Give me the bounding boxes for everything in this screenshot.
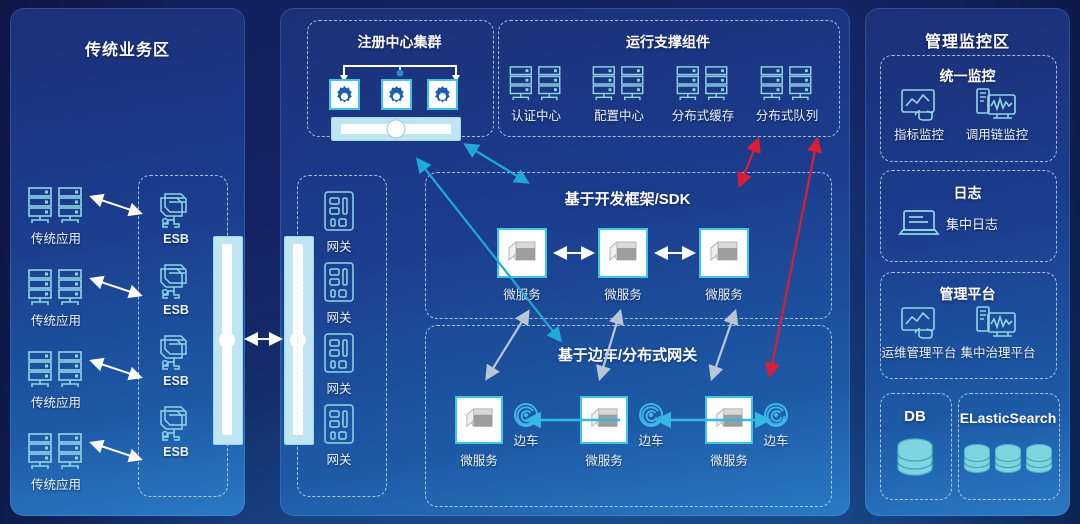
- registry-node-2[interactable]: [381, 79, 412, 110]
- list-item[interactable]: ESB: [155, 261, 197, 301]
- list-item-label: 传统应用: [16, 310, 96, 329]
- list-item-label: ESB: [145, 232, 207, 246]
- cube-icon: [606, 238, 640, 272]
- list-item-label: 传统应用: [16, 228, 96, 247]
- microservice-label: 微服务: [692, 450, 766, 469]
- logs-item-central[interactable]: 集中日志: [898, 208, 940, 240]
- server-stack-icon: [588, 65, 650, 103]
- gateway-icon: [322, 261, 356, 305]
- list-item[interactable]: 网关: [322, 332, 356, 376]
- gear-icon: [331, 83, 358, 110]
- cube-icon: [588, 405, 621, 438]
- monitoring-item-label: 指标监控: [886, 124, 952, 143]
- gear-icon: [429, 83, 456, 110]
- microservice-tile: [455, 396, 503, 444]
- dashboard-touch-icon: [900, 88, 938, 122]
- list-item[interactable]: 网关: [322, 403, 356, 447]
- registry-node-1[interactable]: [329, 79, 360, 110]
- gateway-icon: [322, 403, 356, 447]
- microservice-tile: [699, 228, 749, 278]
- monitor-wave-icon: [975, 306, 1017, 340]
- gateway-icon: [322, 190, 356, 234]
- registry-load-balancer[interactable]: [331, 117, 461, 141]
- list-item[interactable]: 分布式队列: [756, 65, 818, 103]
- list-item[interactable]: 分布式缓存: [672, 65, 734, 103]
- server-stack-icon: [505, 65, 567, 103]
- logs-title: 日志: [880, 183, 1055, 203]
- esb-icon: [155, 403, 197, 443]
- list-item-label: 配置中心: [579, 105, 659, 124]
- list-item-label: 传统应用: [16, 474, 96, 493]
- cube-icon: [707, 238, 741, 272]
- registry-cluster-title: 注册中心集群: [307, 32, 492, 52]
- monitor-wave-icon: [975, 88, 1017, 122]
- architecture-diagram: 传统业务区 传统应用: [0, 0, 1080, 524]
- platform-title: 管理平台: [880, 284, 1055, 304]
- list-item-label: 传统应用: [16, 392, 96, 411]
- dashboard-touch-icon: [900, 306, 938, 340]
- microservice-tile: [598, 228, 648, 278]
- slider-knob[interactable]: [388, 121, 405, 138]
- runtime-components-title: 运行支撑组件: [498, 32, 838, 52]
- list-item-label: 网关: [309, 236, 369, 255]
- monitoring-item-tracing[interactable]: 调用链监控: [975, 88, 1017, 122]
- storage-es-title: ELasticSearch: [954, 410, 1062, 426]
- server-stack-icon: [672, 65, 734, 103]
- list-item-label: 网关: [309, 449, 369, 468]
- sidecar-label: 边车: [753, 430, 799, 449]
- esb-icon: [155, 332, 197, 372]
- list-item[interactable]: 网关: [322, 261, 356, 305]
- list-item[interactable]: 认证中心: [505, 65, 567, 103]
- sidecar-spiral-icon: [638, 402, 664, 428]
- right-panel-title: 管理监控区: [865, 28, 1070, 52]
- cube-icon: [505, 238, 539, 272]
- database-icon: [895, 437, 935, 483]
- rail-connector-dot: [219, 332, 235, 348]
- logs-item-label: 集中日志: [946, 214, 1012, 233]
- database-icon: [963, 442, 1053, 482]
- list-item[interactable]: ESB: [155, 190, 197, 230]
- microservice-label: 微服务: [442, 450, 516, 469]
- sidecar-label: 边车: [628, 430, 674, 449]
- esb-icon: [155, 190, 197, 230]
- esb-icon: [155, 261, 197, 301]
- list-item[interactable]: 传统应用: [26, 350, 86, 390]
- sidecar-zone-title: 基于边车/分布式网关: [425, 344, 830, 365]
- list-item-label: 分布式缓存: [663, 105, 743, 124]
- monitoring-item-metrics[interactable]: 指标监控: [900, 88, 938, 122]
- microservice-tile: [497, 228, 547, 278]
- microservice-label: 微服务: [586, 284, 660, 303]
- microservice-tile: [705, 396, 753, 444]
- server-stack-icon: [26, 350, 86, 390]
- list-item[interactable]: 传统应用: [26, 432, 86, 472]
- platform-item-label: 运维管理平台: [880, 342, 958, 361]
- list-item-label: 分布式队列: [747, 105, 827, 124]
- cube-icon: [713, 405, 746, 438]
- server-stack-icon: [26, 268, 86, 308]
- server-stack-icon: [756, 65, 818, 103]
- gear-icon: [383, 83, 410, 110]
- list-item-label: ESB: [145, 374, 207, 388]
- server-stack-icon: [26, 432, 86, 472]
- platform-item-governance[interactable]: 集中治理平台: [975, 306, 1017, 340]
- microservice-label: 微服务: [485, 284, 559, 303]
- storage-db-title: DB: [880, 408, 950, 425]
- list-item[interactable]: 传统应用: [26, 268, 86, 308]
- list-item-label: 认证中心: [496, 105, 576, 124]
- platform-item-label: 集中治理平台: [959, 342, 1037, 361]
- sidecar-spiral-icon: [763, 402, 789, 428]
- sidecar-label: 边车: [503, 430, 549, 449]
- server-stack-icon: [26, 186, 86, 226]
- list-item[interactable]: 配置中心: [588, 65, 650, 103]
- list-item-label: ESB: [145, 445, 207, 459]
- esb-bus-rail[interactable]: [213, 236, 241, 443]
- gateway-icon: [322, 332, 356, 376]
- list-item-label: 网关: [309, 378, 369, 397]
- laptop-icon: [898, 208, 940, 240]
- registry-node-3[interactable]: [427, 79, 458, 110]
- list-item-label: ESB: [145, 303, 207, 317]
- list-item[interactable]: 网关: [322, 190, 356, 234]
- list-item[interactable]: ESB: [155, 332, 197, 372]
- microservice-label: 微服务: [687, 284, 761, 303]
- list-item-label: 网关: [309, 307, 369, 326]
- microservice-tile: [580, 396, 628, 444]
- monitoring-item-label: 调用链监控: [961, 124, 1033, 143]
- sidecar-spiral-icon: [513, 402, 539, 428]
- list-item[interactable]: ESB: [155, 403, 197, 443]
- platform-item-ops[interactable]: 运维管理平台: [900, 306, 938, 340]
- cube-icon: [463, 405, 496, 438]
- microservice-label: 微服务: [567, 450, 641, 469]
- left-panel-title: 传统业务区: [10, 36, 245, 60]
- monitoring-title: 统一监控: [880, 66, 1055, 86]
- sdk-zone-title: 基于开发框架/SDK: [425, 188, 830, 209]
- list-item[interactable]: 传统应用: [26, 186, 86, 226]
